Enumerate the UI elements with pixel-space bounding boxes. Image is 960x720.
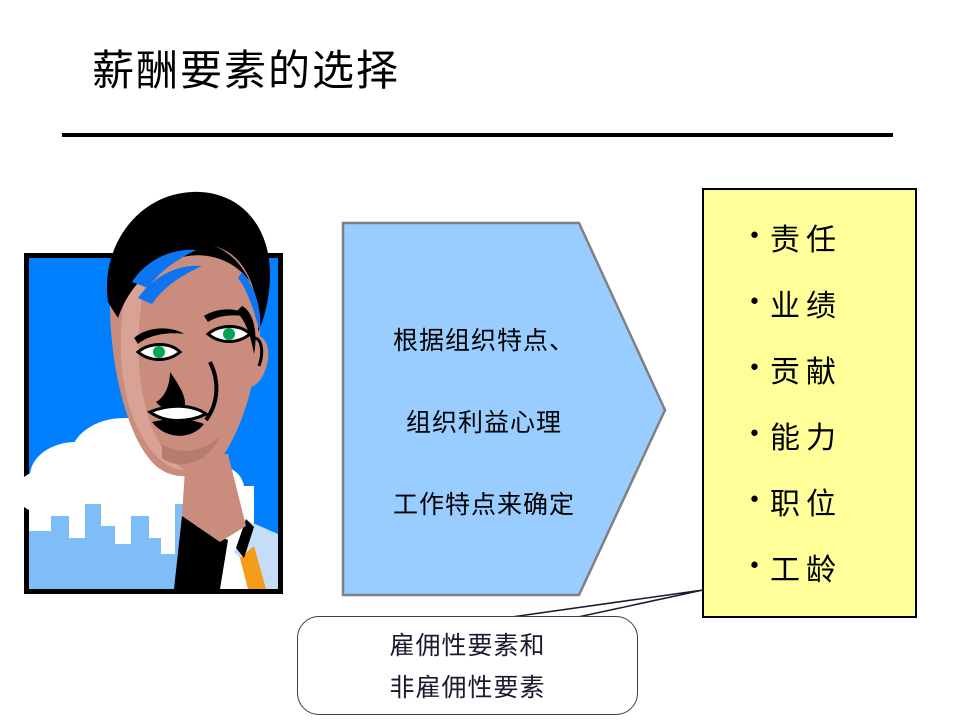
arrow-line-2: 组织利益心理 xyxy=(344,382,624,464)
factors-list: • 责任 • 业绩 • 贡献 • 能力 • 职位 • 工龄 xyxy=(704,190,915,616)
factor-label: 职位 xyxy=(770,479,842,523)
list-item: • 能力 xyxy=(704,402,915,468)
bullet-icon: • xyxy=(748,490,770,512)
bullet-icon: • xyxy=(748,358,770,380)
title-divider xyxy=(62,133,893,137)
factors-box: • 责任 • 业绩 • 贡献 • 能力 • 职位 • 工龄 xyxy=(702,188,917,618)
arrow-line-3: 工作特点来确定 xyxy=(344,464,624,546)
slide-canvas: 薪酬要素的选择 xyxy=(0,0,960,720)
callout-line-1: 雇佣性要素和 xyxy=(298,625,637,667)
businessman-clipart xyxy=(14,186,294,598)
callout-line-2: 非雇佣性要素 xyxy=(298,667,637,709)
factor-label: 贡献 xyxy=(770,347,842,391)
factor-label: 工龄 xyxy=(770,545,842,589)
list-item: • 职位 xyxy=(704,468,915,534)
list-item: • 贡献 xyxy=(704,336,915,402)
page-title: 薪酬要素的选择 xyxy=(92,42,872,100)
factor-label: 责任 xyxy=(770,215,842,259)
bullet-icon: • xyxy=(748,226,770,248)
list-item: • 业绩 xyxy=(704,270,915,336)
arrow-text-block: 根据组织特点、 组织利益心理 工作特点来确定 xyxy=(344,300,624,546)
list-item: • 工龄 xyxy=(704,534,915,600)
callout-box: 雇佣性要素和 非雇佣性要素 xyxy=(297,616,638,715)
callout-text-block: 雇佣性要素和 非雇佣性要素 xyxy=(298,625,637,709)
bullet-icon: • xyxy=(748,292,770,314)
bullet-icon: • xyxy=(748,556,770,578)
list-item: • 责任 xyxy=(704,204,915,270)
factor-label: 能力 xyxy=(770,413,842,457)
bullet-icon: • xyxy=(748,424,770,446)
factor-label: 业绩 xyxy=(770,281,842,325)
arrow-line-1: 根据组织特点、 xyxy=(344,300,624,382)
